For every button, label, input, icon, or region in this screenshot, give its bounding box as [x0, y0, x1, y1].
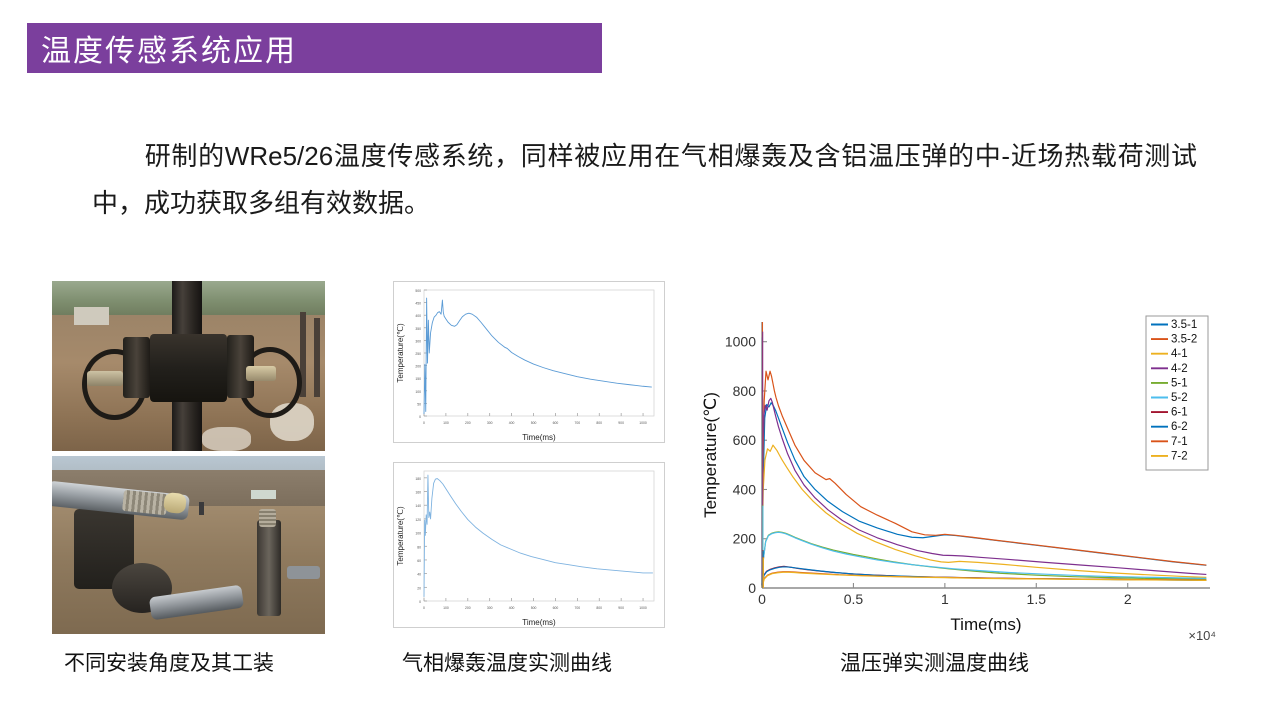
svg-text:Temperature(℃): Temperature(℃)	[396, 323, 405, 383]
svg-text:800: 800	[596, 421, 602, 425]
svg-text:40: 40	[417, 573, 421, 577]
svg-text:0: 0	[419, 415, 421, 419]
svg-text:160: 160	[415, 491, 421, 495]
photo-stake	[314, 318, 319, 396]
svg-text:500: 500	[531, 421, 537, 425]
svg-text:300: 300	[487, 606, 493, 610]
svg-text:3.5-1: 3.5-1	[1171, 319, 1197, 331]
svg-text:300: 300	[415, 339, 421, 343]
svg-text:×10⁴: ×10⁴	[1188, 628, 1216, 643]
svg-text:6-1: 6-1	[1171, 407, 1188, 419]
caption-big-chart: 温压弹实测温度曲线	[840, 647, 1029, 677]
photo-clamp-disc-left	[123, 337, 150, 398]
svg-text:400: 400	[733, 481, 757, 497]
svg-text:400: 400	[509, 606, 515, 610]
chart-gas-detonation-1: 0100200300400500600700800900100005010015…	[393, 281, 665, 443]
svg-text:20: 20	[417, 586, 421, 590]
photo-building	[74, 307, 109, 326]
svg-text:100: 100	[415, 390, 421, 394]
caption-gas-chart: 气相爆轰温度实测曲线	[402, 647, 612, 677]
svg-text:7-2: 7-2	[1171, 450, 1188, 462]
svg-text:5-2: 5-2	[1171, 392, 1188, 404]
paragraph-text: 研制的WRe5/26温度传感系统，同样被应用在气相爆轰及含铝温压弹的中-近场热载…	[92, 141, 1197, 218]
photo-mounting-angles-top	[52, 281, 325, 451]
photo-tent	[251, 490, 276, 499]
photo-sandbag	[202, 427, 251, 451]
svg-text:900: 900	[618, 606, 624, 610]
slide-root: 温度传感系统应用 研制的WRe5/26温度传感系统，同样被应用在气相爆轰及含铝温…	[0, 0, 1280, 720]
svg-text:150: 150	[415, 377, 421, 381]
svg-text:200: 200	[465, 606, 471, 610]
svg-text:600: 600	[733, 432, 757, 448]
svg-text:1.5: 1.5	[1027, 591, 1047, 607]
svg-text:200: 200	[415, 365, 421, 369]
svg-text:200: 200	[465, 421, 471, 425]
svg-text:250: 250	[415, 352, 421, 356]
svg-text:700: 700	[574, 421, 580, 425]
svg-text:60: 60	[417, 559, 421, 563]
svg-text:300: 300	[487, 421, 493, 425]
svg-text:140: 140	[415, 504, 421, 508]
svg-text:180: 180	[415, 477, 421, 481]
svg-text:800: 800	[733, 383, 757, 399]
page-title: 温度传感系统应用	[27, 26, 297, 70]
svg-text:1000: 1000	[639, 606, 647, 610]
svg-text:100: 100	[443, 606, 449, 610]
svg-text:0: 0	[423, 606, 425, 610]
body-paragraph: 研制的WRe5/26温度传感系统，同样被应用在气相爆轰及含铝温压弹的中-近场热载…	[92, 133, 1197, 227]
chart-gas-detonation-2: 0100200300400500600700800900100002040608…	[393, 462, 665, 628]
svg-text:400: 400	[509, 421, 515, 425]
chart-thermobaric-temperature: 00.511.5202004006008001000Time(ms)×10⁴Te…	[700, 296, 1220, 646]
svg-text:5-1: 5-1	[1171, 377, 1188, 389]
svg-text:900: 900	[618, 421, 624, 425]
svg-text:0: 0	[419, 600, 421, 604]
svg-text:1000: 1000	[639, 421, 647, 425]
svg-text:450: 450	[415, 302, 421, 306]
svg-text:7-1: 7-1	[1171, 436, 1188, 448]
svg-text:500: 500	[531, 606, 537, 610]
svg-text:350: 350	[415, 327, 421, 331]
svg-text:700: 700	[574, 606, 580, 610]
photo-person	[199, 502, 203, 514]
photo-sensor-post-tip	[259, 509, 275, 527]
caption-photos: 不同安装角度及其工装	[64, 647, 274, 677]
svg-text:600: 600	[553, 421, 559, 425]
svg-text:50: 50	[417, 402, 421, 406]
svg-text:600: 600	[553, 606, 559, 610]
slide-title-banner: 温度传感系统应用	[27, 23, 602, 73]
photo-mounting-angles-bottom	[52, 456, 325, 634]
photo-post-bracket	[287, 566, 320, 578]
svg-text:0: 0	[758, 591, 766, 607]
photo-sensor-tip	[163, 492, 187, 514]
svg-text:4-2: 4-2	[1171, 363, 1188, 375]
svg-text:0.5: 0.5	[844, 591, 864, 607]
photo-pole-collar	[150, 334, 226, 402]
svg-text:400: 400	[415, 314, 421, 318]
svg-text:2: 2	[1124, 591, 1132, 607]
svg-text:0: 0	[748, 580, 756, 596]
svg-text:100: 100	[443, 421, 449, 425]
svg-text:6-2: 6-2	[1171, 421, 1188, 433]
photo-sensor-probe-right	[246, 366, 276, 381]
svg-text:800: 800	[596, 606, 602, 610]
svg-text:Temperature(℃): Temperature(℃)	[396, 506, 405, 566]
svg-text:80: 80	[417, 545, 421, 549]
svg-text:200: 200	[733, 531, 757, 547]
svg-text:Temperature(℃): Temperature(℃)	[701, 392, 720, 518]
svg-text:500: 500	[415, 289, 421, 293]
svg-text:Time(ms): Time(ms)	[950, 615, 1021, 634]
photo-sensor-probe-left	[87, 371, 122, 386]
svg-text:1: 1	[941, 591, 949, 607]
svg-text:0: 0	[423, 421, 425, 425]
svg-text:4-1: 4-1	[1171, 348, 1188, 360]
svg-text:Time(ms): Time(ms)	[522, 618, 556, 627]
photo-threaded-section	[122, 489, 168, 515]
svg-text:100: 100	[415, 532, 421, 536]
photo-sensor-post	[257, 520, 282, 616]
svg-text:1000: 1000	[725, 334, 756, 350]
svg-text:120: 120	[415, 518, 421, 522]
svg-text:Time(ms): Time(ms)	[522, 433, 556, 442]
svg-text:3.5-2: 3.5-2	[1171, 334, 1197, 346]
